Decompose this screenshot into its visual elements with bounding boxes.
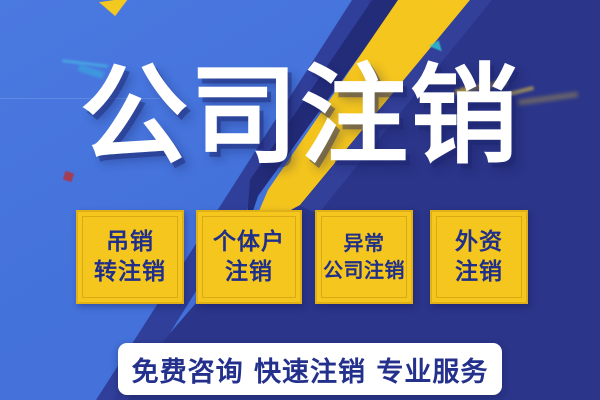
service-box-line-2: 注销 <box>455 257 503 287</box>
service-box-label: 异常 公司注销 <box>323 230 405 284</box>
service-box-line-1: 异常 <box>323 230 405 257</box>
bottom-cta-banner-text: 免费咨询 快速注销 专业服务 <box>132 350 489 389</box>
service-box-label: 个体户 注销 <box>213 227 285 287</box>
service-box-getihu-zhuxiao[interactable]: 个体户 注销 <box>196 210 302 304</box>
service-box-yichang-gongsi-zhuxiao[interactable]: 异常 公司注销 <box>315 210 413 304</box>
service-box-line-1: 吊销 <box>94 227 166 257</box>
service-box-group: 吊销 转注销 个体户 注销 异常 公司注销 外资 注销 <box>0 0 600 400</box>
service-box-label: 外资 注销 <box>455 227 503 287</box>
service-box-line-2: 注销 <box>213 257 285 287</box>
service-box-line-2: 公司注销 <box>323 257 405 284</box>
service-box-waizi-zhuxiao[interactable]: 外资 注销 <box>430 210 528 304</box>
bottom-cta-banner[interactable]: 免费咨询 快速注销 专业服务 <box>118 343 502 395</box>
service-box-line-1: 外资 <box>455 227 503 257</box>
service-box-diaoxiao-zhuanzhuxiao[interactable]: 吊销 转注销 <box>76 210 184 304</box>
service-box-line-2: 转注销 <box>94 257 166 287</box>
service-box-label: 吊销 转注销 <box>94 227 166 287</box>
service-box-line-1: 个体户 <box>213 227 285 257</box>
promo-poster: 公司注销 吊销 转注销 个体户 注销 异常 公司注销 <box>0 0 600 400</box>
